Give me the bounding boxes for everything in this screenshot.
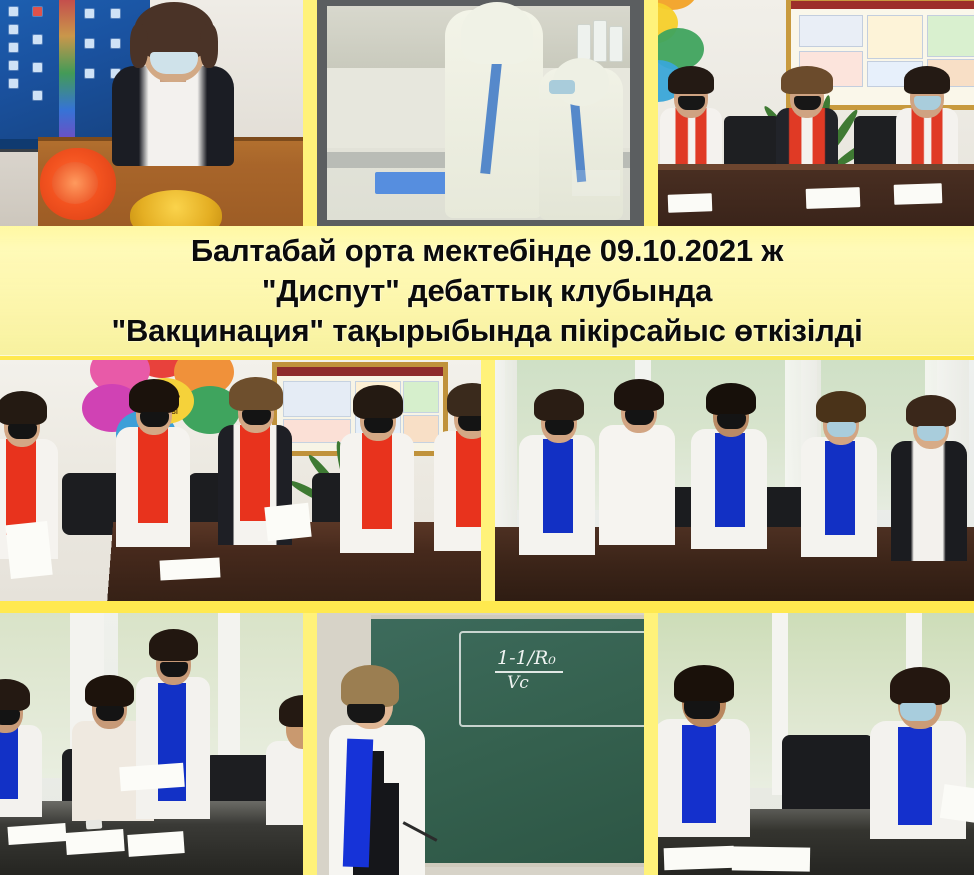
paper-sheet xyxy=(264,503,311,541)
photo-divider-vertical xyxy=(644,0,658,226)
paper-sheet xyxy=(664,846,735,870)
caption-banner: Балтабай орта мектебінде 09.10.2021 ж "Д… xyxy=(0,226,974,356)
photo-divider-vertical xyxy=(644,613,658,875)
photo-row-middle: ЖЕТІ МОДУЛЬ ЖЕТІ ДАҒДЫ xyxy=(0,360,974,601)
photo-student-speaking-image xyxy=(0,613,303,875)
photo-divider-vertical xyxy=(481,360,495,601)
paper-sheet xyxy=(894,183,943,205)
caption-line-2: "Диспут" дебаттық клубында xyxy=(262,271,712,311)
chalk-fraction-bar xyxy=(495,671,563,673)
paper-sheet xyxy=(119,763,185,791)
chalk-box-outline xyxy=(459,631,644,727)
photo-red-team-standing: ЖЕТІ МОДУЛЬ ЖЕТІ ДАҒДЫ xyxy=(0,360,481,601)
medical-worker-hood-front xyxy=(461,2,533,64)
photo-collage-poster: ЖЕТІ МОДУЛЬ ЖЕТІ ДАҒДЫ xyxy=(0,0,974,875)
face-mask-icon xyxy=(549,80,575,94)
photo-red-team-seated-image xyxy=(658,0,974,226)
paper-sheet xyxy=(940,784,974,824)
face-mask-icon xyxy=(96,706,124,721)
photo-divider-vertical xyxy=(303,613,317,875)
photo-blue-team-standing-image xyxy=(495,360,974,601)
photo-speaker-podium xyxy=(0,0,303,226)
photo-two-students-seated xyxy=(658,613,974,875)
face-mask-icon xyxy=(458,416,481,431)
photo-medical-staff-image xyxy=(317,0,644,226)
student-at-chalkboard xyxy=(325,651,435,875)
face-mask-icon xyxy=(900,703,936,721)
paper-sheet xyxy=(160,557,221,580)
face-mask-icon xyxy=(545,420,574,435)
screen-color-strip xyxy=(59,0,75,147)
chalk-formula-numerator: 1-1/R₀ xyxy=(497,647,556,669)
photo-student-speaking xyxy=(0,613,303,875)
paper-sheet xyxy=(127,831,184,857)
face-mask-icon xyxy=(717,414,746,429)
photo-medical-staff-slide xyxy=(317,0,644,226)
slide-watermark xyxy=(572,170,620,196)
photo-red-team-seated xyxy=(658,0,974,226)
face-mask-icon xyxy=(794,96,821,110)
photo-divider-vertical xyxy=(303,0,317,226)
photo-blue-team-standing xyxy=(495,360,974,601)
caption-line-1: Балтабай орта мектебінде 09.10.2021 ж xyxy=(191,231,783,271)
face-mask-icon xyxy=(625,410,654,425)
face-mask-icon xyxy=(684,701,720,719)
face-mask-icon xyxy=(827,422,856,437)
face-mask-icon xyxy=(364,418,393,433)
photo-speaker-podium-image xyxy=(0,0,303,226)
paper-sheet xyxy=(806,187,861,209)
photo-red-team-standing-image: ЖЕТІ МОДУЛЬ ЖЕТІ ДАҒДЫ xyxy=(0,360,481,601)
face-mask-icon xyxy=(917,426,946,441)
smartphone-icon xyxy=(86,819,103,829)
orange-paper-flower xyxy=(40,148,116,220)
paper-sheet xyxy=(5,521,52,579)
photo-row-top xyxy=(0,0,974,226)
projected-slide xyxy=(327,6,630,220)
caption-line-3: "Вакцинация" тақырыбында пікірсайыс өткі… xyxy=(111,311,862,351)
paper-sheet xyxy=(65,829,124,855)
face-mask-icon xyxy=(242,410,271,425)
photo-chalkboard-image: 1-1/R₀ Vc Мұндағы Ɛ = 3 R₀ = репродукция… xyxy=(317,613,644,875)
face-mask-icon xyxy=(914,96,941,110)
face-mask-icon xyxy=(678,96,705,110)
chalk-formula-denominator: Vc xyxy=(507,673,529,693)
face-mask-icon xyxy=(347,704,385,723)
face-mask-icon xyxy=(150,52,198,74)
paper-sheet xyxy=(668,193,713,213)
photo-chalkboard-formula: 1-1/R₀ Vc Мұндағы Ɛ = 3 R₀ = репродукция… xyxy=(317,613,644,875)
face-mask-icon xyxy=(160,662,188,677)
face-mask-icon xyxy=(8,424,37,439)
photo-row-bottom: 1-1/R₀ Vc Мұндағы Ɛ = 3 R₀ = репродукция… xyxy=(0,613,974,875)
photo-two-students-seated-image xyxy=(658,613,974,875)
face-mask-icon xyxy=(140,412,169,427)
paper-sheet xyxy=(732,846,810,871)
